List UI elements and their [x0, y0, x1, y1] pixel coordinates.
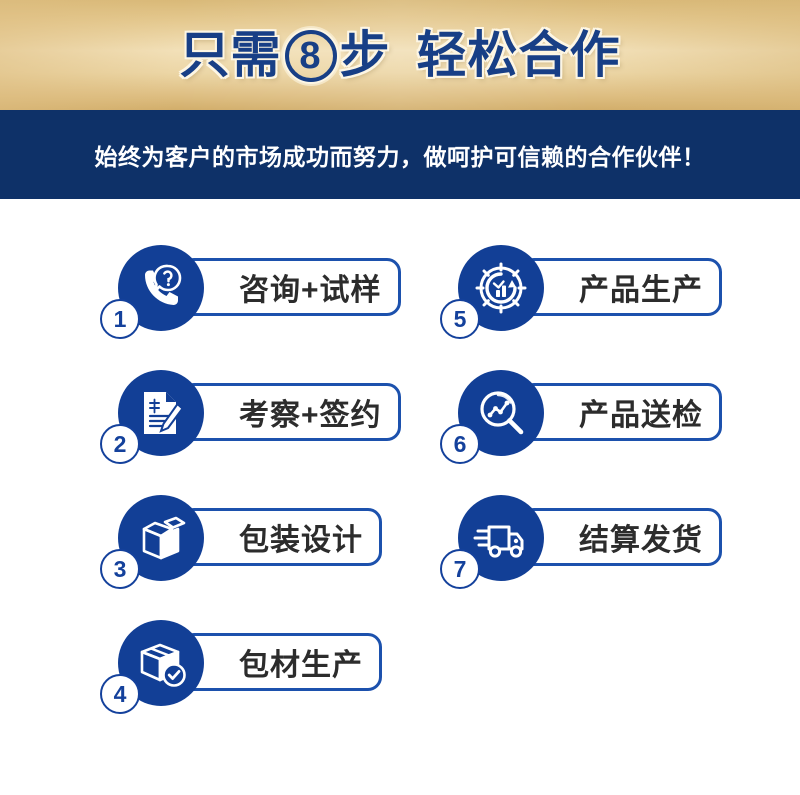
page-title: 只需 8 步 轻松合作: [180, 29, 621, 81]
step-label-7: 结算发货: [579, 515, 703, 559]
header-title-wrap: 只需 8 步 轻松合作: [0, 0, 800, 110]
header-gold-banner: 只需 8 步 轻松合作: [0, 0, 800, 110]
step-label-pill-1: 咨询+试样: [180, 258, 401, 316]
step-item-3[interactable]: 包装设计 3: [100, 491, 440, 616]
gear-chart-icon: [471, 258, 531, 318]
step-number-badge-4: 4: [100, 674, 140, 714]
step-item-7[interactable]: 结算发货 7: [440, 491, 780, 616]
step-label-6: 产品送检: [579, 390, 703, 434]
step-label-pill-2: 考察+签约: [180, 383, 401, 441]
open-box-icon: [132, 509, 190, 567]
step-label-3: 包装设计: [239, 515, 363, 559]
circled-eight-badge: 8: [285, 30, 337, 82]
steps-right-column: 产品生产 5: [440, 241, 780, 616]
title-part-3: 轻松合作: [417, 30, 621, 80]
step-number-badge-1: 1: [100, 299, 140, 339]
step-label-2: 考察+签约: [239, 390, 382, 434]
subtitle-blue-banner: 始终为客户的市场成功而努力，做呵护可信赖的合作伙伴！: [0, 110, 800, 199]
step-label-5: 产品生产: [579, 265, 703, 309]
step-item-5[interactable]: 产品生产 5: [440, 241, 780, 366]
magnifier-analysis-icon: [472, 384, 530, 442]
step-item-1[interactable]: 咨询+试样 1: [100, 241, 440, 366]
delivery-truck-icon: [472, 509, 530, 567]
step-item-2[interactable]: 考察+签约 2: [100, 366, 440, 491]
step-label-1: 咨询+试样: [239, 265, 382, 309]
step-number-badge-6: 6: [440, 424, 480, 464]
step-item-6[interactable]: 产品送检 6: [440, 366, 780, 491]
steps-section: 咨询+试样 1 考察+签约: [0, 199, 800, 795]
step-number-badge-3: 3: [100, 549, 140, 589]
box-check-icon: [132, 634, 190, 692]
step-label-pill-6: 产品送检: [520, 383, 722, 441]
step-label-pill-3: 包装设计: [180, 508, 382, 566]
step-number-badge-7: 7: [440, 549, 480, 589]
step-number-badge-2: 2: [100, 424, 140, 464]
title-part-2: 步: [340, 30, 391, 80]
step-label-pill-4: 包材生产: [180, 633, 382, 691]
step-label-pill-7: 结算发货: [520, 508, 722, 566]
step-item-4[interactable]: 包材生产 4: [100, 616, 440, 741]
steps-left-column: 咨询+试样 1 考察+签约: [100, 241, 440, 741]
subtitle-text: 始终为客户的市场成功而努力，做呵护可信赖的合作伙伴！: [95, 138, 706, 172]
phone-question-icon: [131, 258, 191, 318]
step-label-pill-5: 产品生产: [520, 258, 722, 316]
contract-pen-icon: [132, 384, 190, 442]
step-number-badge-5: 5: [440, 299, 480, 339]
title-part-1: 只需: [180, 30, 282, 80]
step-label-4: 包材生产: [239, 640, 363, 684]
